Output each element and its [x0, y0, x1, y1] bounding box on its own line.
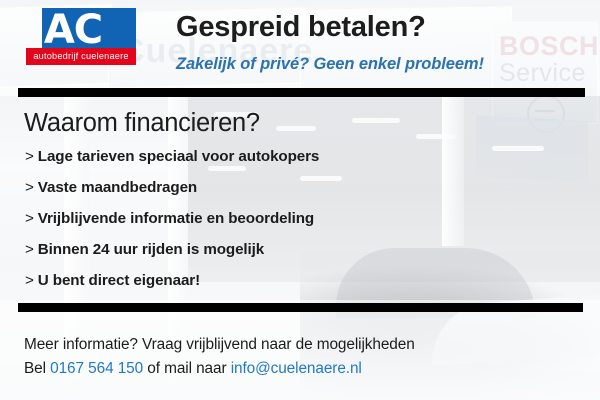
list-item: >Vrijblijvende informatie en beoordeling — [25, 210, 565, 228]
call-prefix-label: Bel — [24, 360, 46, 377]
list-item: >Lage tarieven speciaal voor autokopers — [25, 148, 565, 166]
chevron-right-icon: > — [25, 241, 34, 258]
phone-number-link[interactable]: 0167 564 150 — [50, 360, 143, 377]
financing-banner: Cuelenaere BOSCH Service AC autobedrijf … — [0, 0, 600, 400]
benefits-list: >Lage tarieven speciaal voor autokopers … — [25, 148, 565, 303]
list-item-label: U bent direct eigenaar! — [38, 272, 200, 289]
company-logo[interactable]: AC autobedrijf cuelenaere — [26, 8, 136, 66]
banner-content: AC autobedrijf cuelenaere Gespreid betal… — [0, 0, 600, 400]
list-item: >Binnen 24 uur rijden is mogelijk — [25, 241, 565, 259]
page-subtitle: Zakelijk of privé? Geen enkel probleem! — [176, 55, 484, 74]
list-item: >Vaste maandbedragen — [25, 179, 565, 197]
list-item-label: Binnen 24 uur rijden is mogelijk — [38, 241, 264, 258]
chevron-right-icon: > — [25, 148, 34, 165]
mail-middle-label: of mail naar — [147, 360, 226, 377]
contact-footer: Meer informatie? Vraag vrijblijvend naar… — [24, 333, 584, 381]
email-link[interactable]: info@cuelenaere.nl — [231, 360, 362, 377]
section-heading: Waarom financieren? — [24, 109, 260, 138]
list-item-label: Vrijblijvende informatie en beoordeling — [38, 210, 314, 227]
chevron-right-icon: > — [25, 272, 34, 289]
list-item: >U bent direct eigenaar! — [25, 272, 565, 290]
chevron-right-icon: > — [25, 179, 34, 196]
footer-info-line: Meer informatie? Vraag vrijblijvend naar… — [24, 333, 584, 357]
chevron-right-icon: > — [25, 210, 34, 227]
footer-contact-line: Bel 0167 564 150 of mail naar info@cuele… — [24, 357, 584, 381]
list-item-label: Lage tarieven speciaal voor autokopers — [38, 148, 320, 165]
page-title: Gespreid betalen? — [176, 11, 426, 44]
logo-subtitle: autobedrijf cuelenaere — [26, 48, 136, 65]
divider-top — [18, 88, 585, 97]
list-item-label: Vaste maandbedragen — [38, 179, 197, 196]
divider-bottom — [18, 303, 583, 312]
